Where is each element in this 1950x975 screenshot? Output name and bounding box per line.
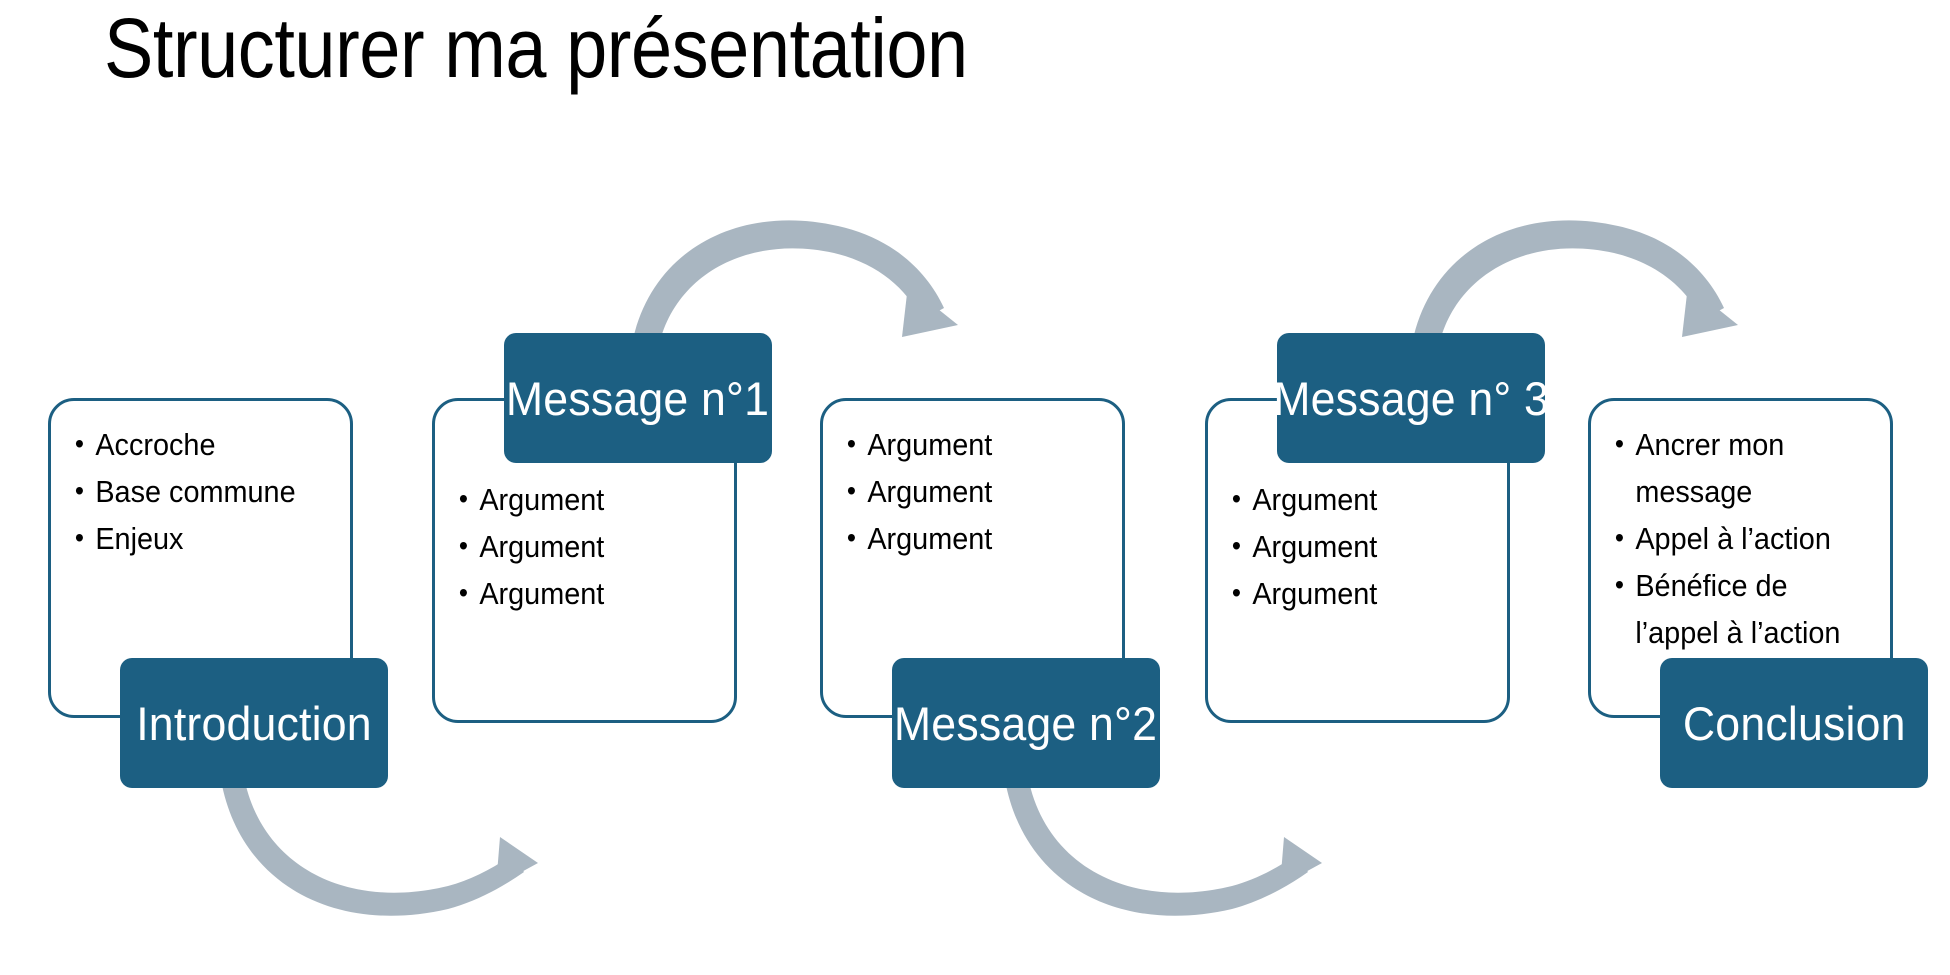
stage-label-message-1[interactable]: Message n°1 — [504, 333, 772, 463]
stage-message-3: Argument Argument Argument Message n° 3 — [1205, 333, 1545, 723]
list-item: Argument — [1230, 523, 1475, 570]
bullet-list-conclusion: Ancrer mon message Appel à l’action Béné… — [1613, 421, 1876, 656]
list-item: Argument — [845, 421, 1090, 468]
arrow-message-1-to-message-2 — [634, 220, 958, 341]
stage-label-text: Introduction — [136, 696, 372, 751]
arrow-introduction-to-message-1 — [221, 777, 538, 916]
list-item: Argument — [1230, 476, 1475, 523]
stage-label-message-3[interactable]: Message n° 3 — [1277, 333, 1545, 463]
list-item: Appel à l’action — [1613, 515, 1858, 562]
list-item: Ancrer mon message — [1613, 421, 1858, 515]
stage-message-1: Argument Argument Argument Message n°1 — [432, 333, 772, 723]
stage-label-conclusion[interactable]: Conclusion — [1660, 658, 1928, 788]
list-item: Argument — [845, 468, 1090, 515]
list-item: Enjeux — [73, 515, 318, 562]
list-item: Bénéfice de l’appel à l’action — [1613, 562, 1858, 656]
list-item: Accroche — [73, 421, 318, 468]
stage-conclusion: Ancrer mon message Appel à l’action Béné… — [1588, 398, 1928, 788]
arrow-message-2-to-message-3 — [1005, 777, 1322, 916]
list-item: Argument — [457, 523, 702, 570]
stage-label-introduction[interactable]: Introduction — [120, 658, 388, 788]
bullet-list-introduction: Accroche Base commune Enjeux — [73, 421, 336, 562]
stage-label-text: Message n° 3 — [1273, 371, 1549, 426]
list-item: Argument — [845, 515, 1090, 562]
list-item: Base commune — [73, 468, 318, 515]
stage-label-text: Conclusion — [1683, 696, 1906, 751]
bullet-list-message-3: Argument Argument Argument — [1230, 476, 1493, 617]
slide-canvas: Structurer ma présentation — [0, 0, 1950, 975]
stage-label-message-2[interactable]: Message n°2 — [892, 658, 1160, 788]
arrow-message-3-to-conclusion — [1414, 220, 1738, 341]
page-title: Structurer ma présentation — [104, 0, 968, 102]
list-item: Argument — [457, 570, 702, 617]
stage-label-text: Message n°2 — [894, 696, 1157, 751]
bullet-list-message-1: Argument Argument Argument — [457, 476, 720, 617]
stage-introduction: Accroche Base commune Enjeux Introductio… — [48, 398, 388, 788]
list-item: Argument — [1230, 570, 1475, 617]
stage-label-text: Message n°1 — [506, 371, 769, 426]
list-item: Argument — [457, 476, 702, 523]
bullet-list-message-2: Argument Argument Argument — [845, 421, 1108, 562]
stage-message-2: Argument Argument Argument Message n°2 — [820, 398, 1160, 788]
